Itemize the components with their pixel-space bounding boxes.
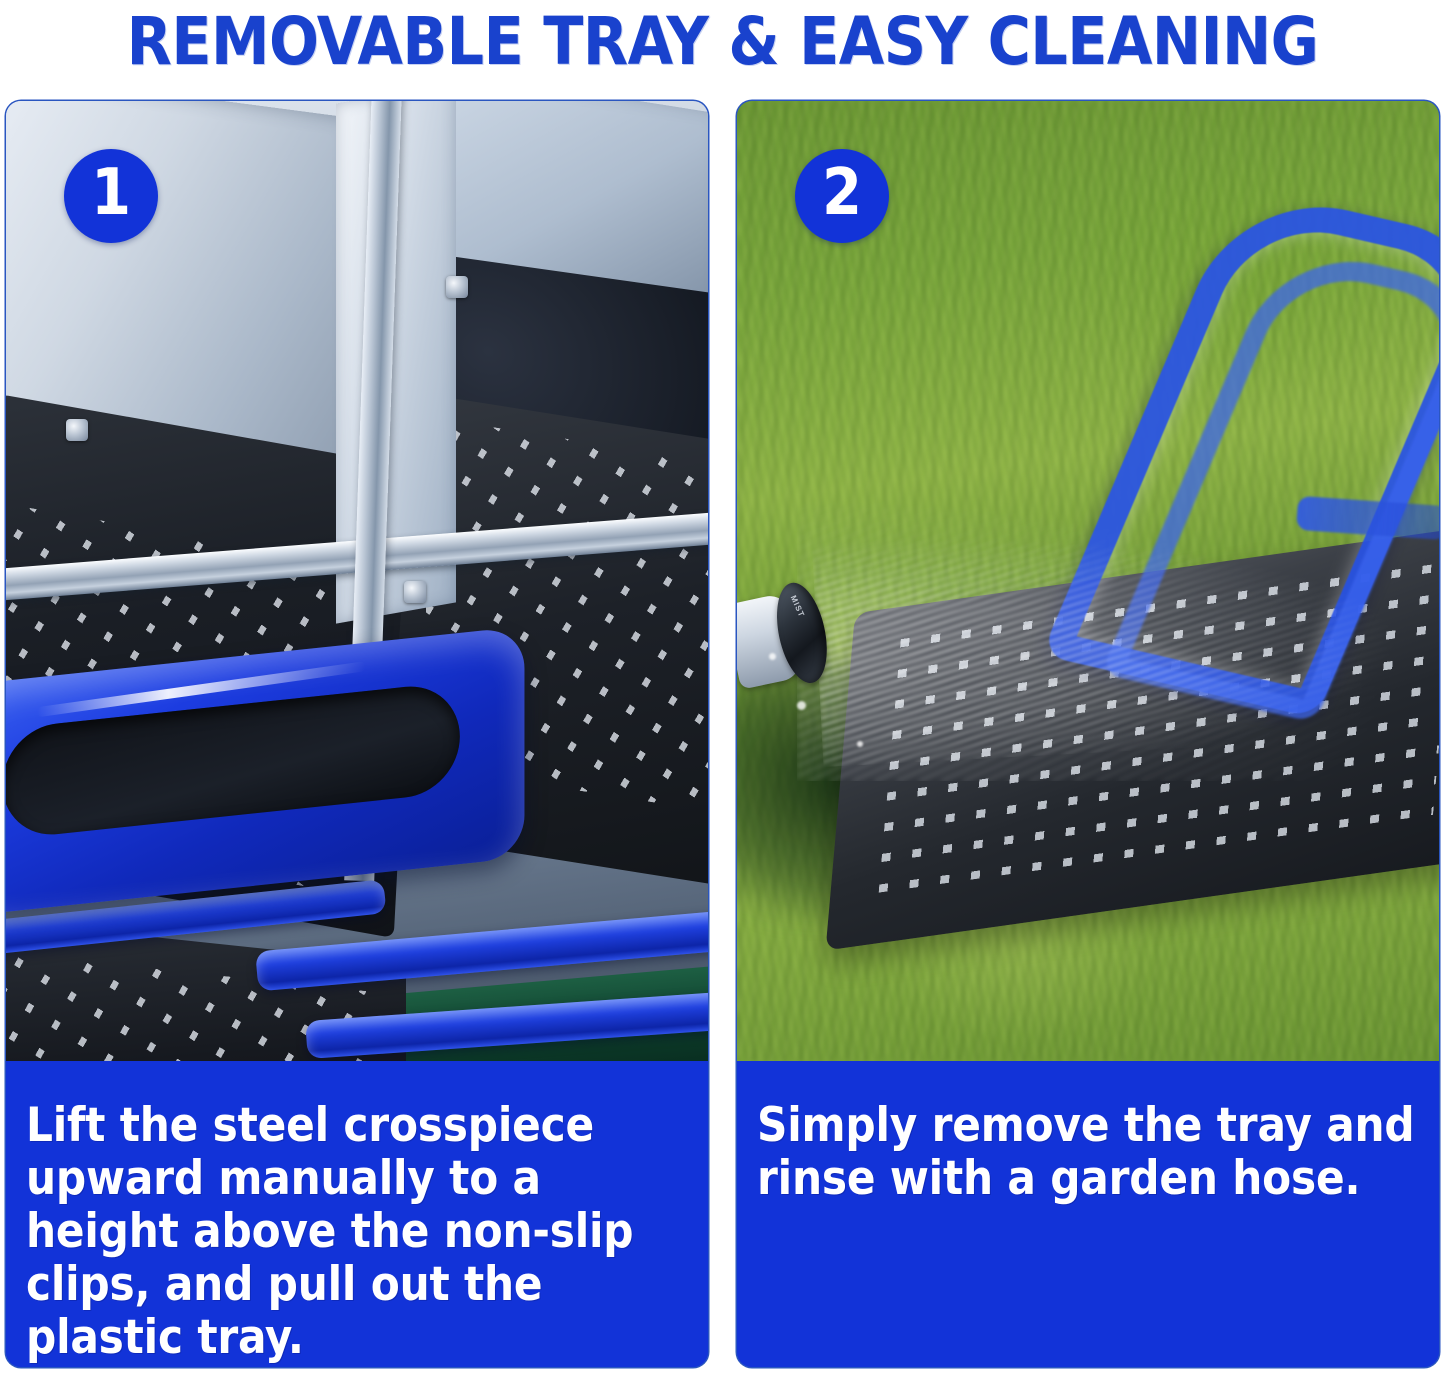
infographic-page: REMOVABLE TRAY & EASY CLEANING (0, 0, 1445, 1378)
water-droplet (797, 701, 806, 710)
step-badge-2: 2 (795, 149, 889, 243)
bolt-icon (404, 581, 426, 603)
step-2-caption-panel: Simply remove the tray and rinse with a … (737, 1061, 1439, 1367)
steps-container: 1 Lift the steel crosspiece upward manua… (6, 101, 1439, 1369)
water-droplet (857, 741, 863, 747)
bolt-icon (66, 419, 88, 441)
step-panel-2: MIST 2 Simply remove the tray and rinse … (737, 101, 1439, 1367)
water-droplet (769, 653, 776, 660)
step-1-caption-text: Lift the steel crosspiece upward manuall… (26, 1099, 686, 1364)
step-number-1: 1 (91, 161, 131, 225)
step-badge-1: 1 (64, 149, 158, 243)
step-panel-1: 1 Lift the steel crosspiece upward manua… (6, 101, 708, 1367)
step-1-caption-panel: Lift the steel crosspiece upward manuall… (6, 1061, 708, 1367)
step-2-caption-text: Simply remove the tray and rinse with a … (757, 1099, 1417, 1205)
step-2-photo: MIST 2 (737, 101, 1439, 1061)
step-1-photo: 1 (6, 101, 708, 1061)
water-spray-jet (811, 505, 1439, 767)
step-number-2: 2 (822, 161, 862, 225)
bolt-icon (446, 276, 468, 298)
page-title: REMOVABLE TRAY & EASY CLEANING (7, 0, 1438, 84)
